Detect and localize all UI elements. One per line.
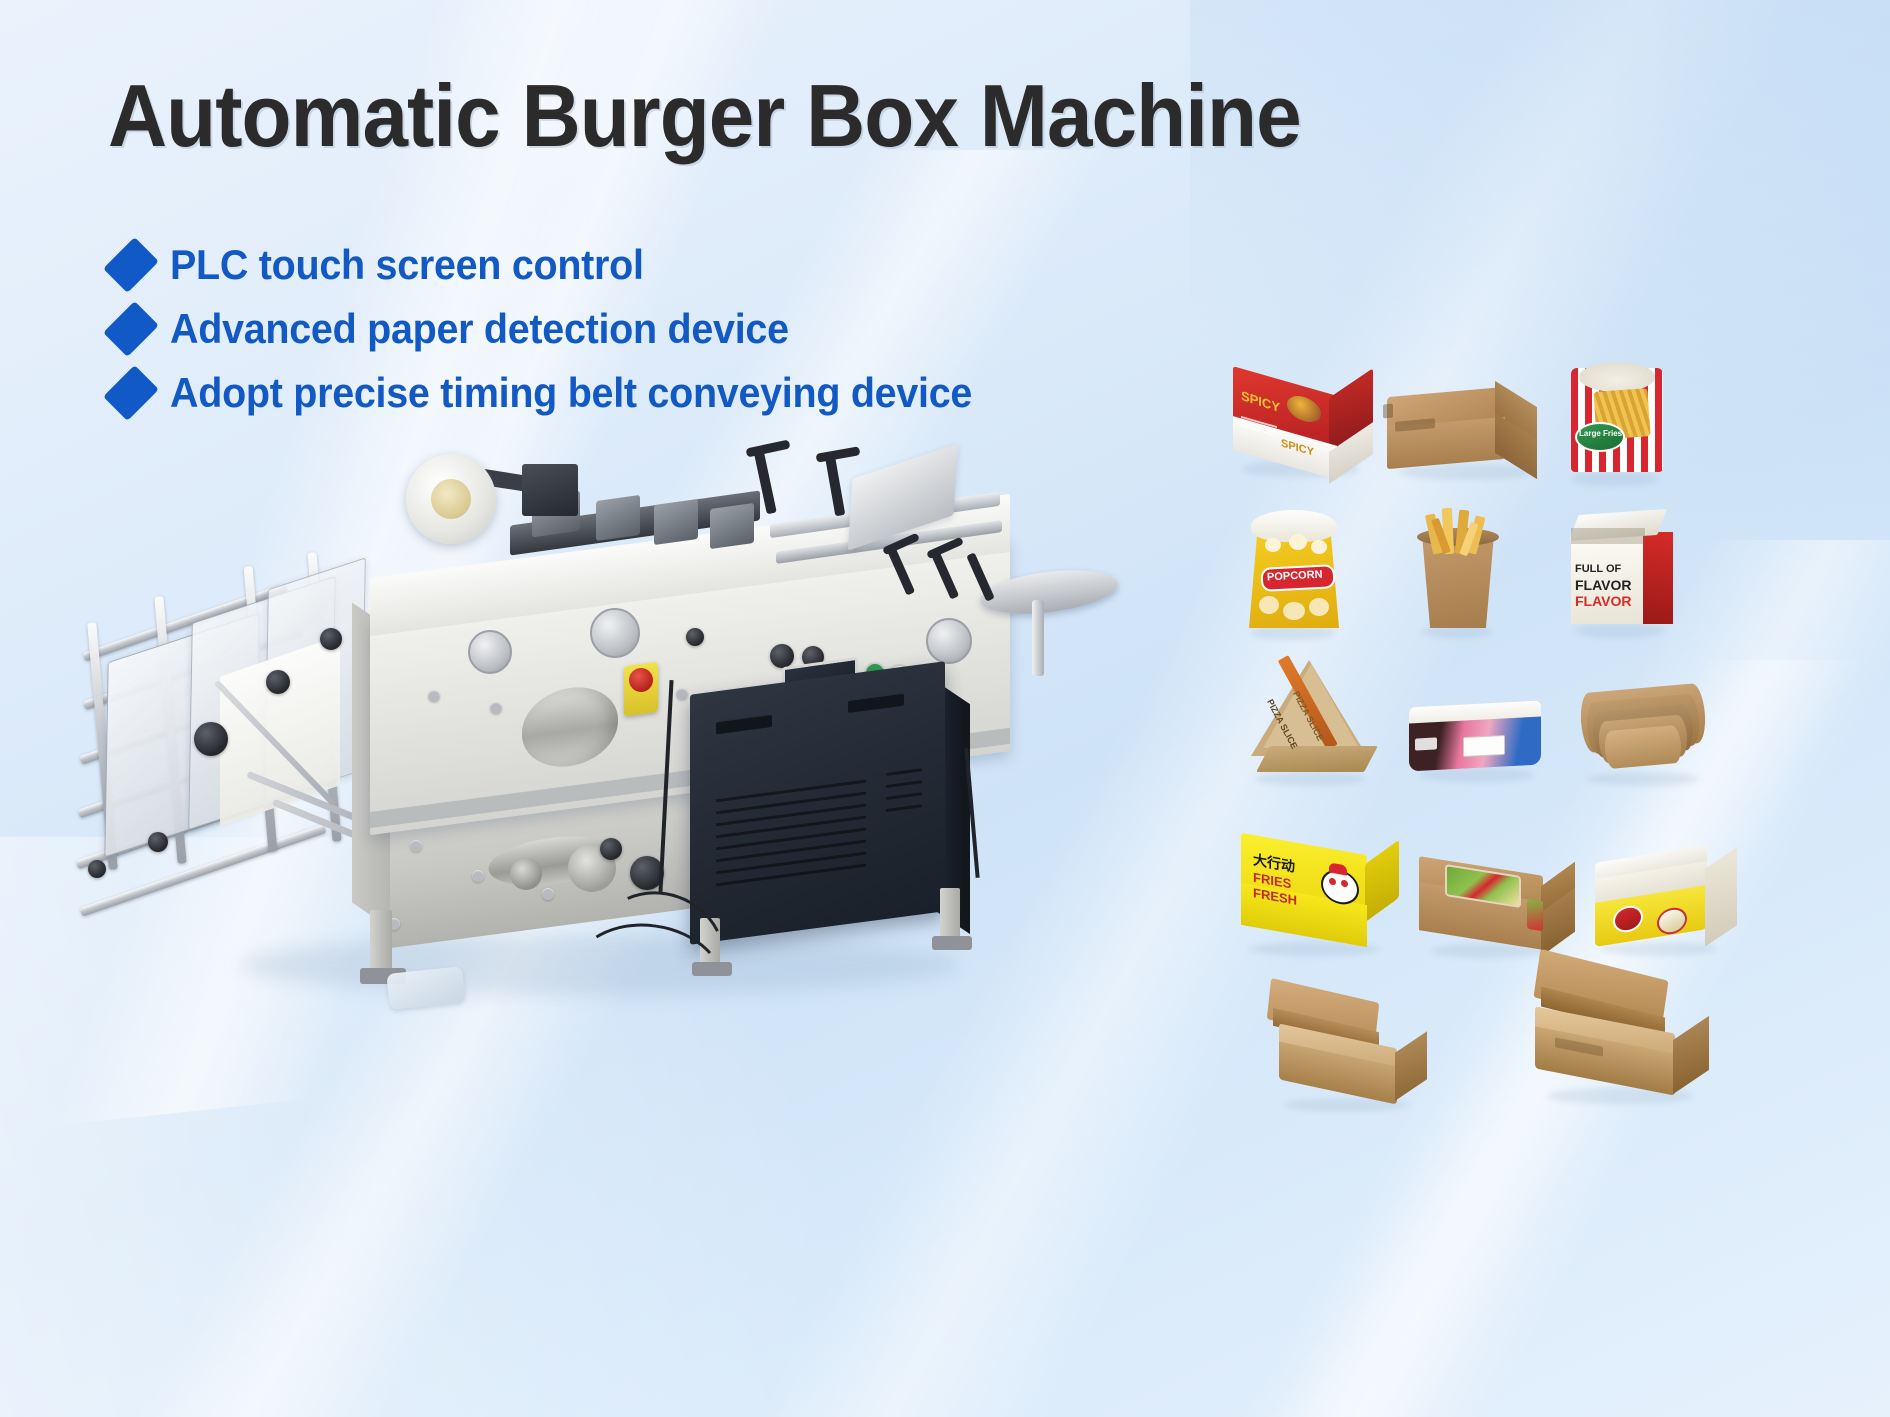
machine-leg <box>940 888 960 940</box>
machine-leg <box>370 910 392 972</box>
blue-diamond-icon <box>103 301 159 357</box>
product-label-full-of: FULL OF <box>1575 564 1621 575</box>
pressure-gauge <box>926 618 972 664</box>
feature-label-3: Adopt precise timing belt conveying devi… <box>170 369 972 417</box>
list-item: Adopt precise timing belt conveying devi… <box>110 364 1023 422</box>
cabinet-handle[interactable] <box>848 693 904 713</box>
panel-bolt <box>542 888 554 900</box>
discharge-table-post <box>1032 600 1044 676</box>
kraft-fries-cup <box>1385 508 1535 638</box>
panel-bolt <box>410 840 422 852</box>
yellow-fries-fresh-box: 大行动 FRIES FRESH <box>1225 830 1415 960</box>
pressure-gauge <box>468 630 512 674</box>
wrapped-foot-bag <box>386 966 465 1010</box>
paper-roll-core <box>431 479 471 519</box>
pressure-gauge <box>590 608 640 658</box>
control-cabinet <box>690 661 945 945</box>
yellow-popcorn-box: POPCORN <box>1225 510 1375 640</box>
panel-bolt <box>472 870 484 882</box>
adjust-lever <box>746 440 791 458</box>
machine-foot <box>932 936 972 950</box>
full-of-flavor-box: FULL OF FLAVOR FLAVOR <box>1541 504 1701 639</box>
machine-photo <box>70 440 1170 1120</box>
nested-kraft-boat-trays <box>1561 670 1731 790</box>
page-title: Automatic Burger Box Machine <box>108 72 1301 160</box>
emergency-stop-button[interactable] <box>629 668 653 692</box>
feature-list: PLC touch screen control Advanced paper … <box>110 236 1023 428</box>
panel-bolt <box>428 690 440 702</box>
blue-diamond-icon <box>103 365 159 421</box>
control-knob[interactable] <box>770 644 794 668</box>
product-label-flavor-1: FLAVOR <box>1575 578 1632 592</box>
blue-diamond-icon <box>103 237 159 293</box>
printed-food-tray <box>1395 680 1565 785</box>
pizza-slice-triangle-box: PIZZA SLICE PIZZA SLICE <box>1233 650 1393 785</box>
control-knob[interactable] <box>686 628 704 646</box>
roll-bracket <box>522 464 578 516</box>
product-sample-grid: SPICY SPICY Large Fries <box>1335 430 1835 1210</box>
striped-fries-box: Large Fries <box>1549 360 1689 490</box>
feature-label-1: PLC touch screen control <box>170 241 644 289</box>
cabinet-handle[interactable] <box>716 714 772 734</box>
kraft-lunch-box-open <box>1255 980 1445 1115</box>
adjust-lever <box>825 454 846 517</box>
panel-bolt <box>676 688 688 700</box>
poster-canvas: Automatic Burger Box Machine PLC touch s… <box>0 0 1890 1417</box>
red-spicy-burger-box: SPICY SPICY <box>1225 375 1385 485</box>
list-item: PLC touch screen control <box>110 236 1023 294</box>
panel-bolt <box>490 702 502 714</box>
large-kraft-clamshell-open <box>1515 958 1730 1108</box>
feature-label-2: Advanced paper detection device <box>170 305 789 353</box>
list-item: Advanced paper detection device <box>110 300 1023 358</box>
kraft-window-salad-box <box>1405 848 1585 963</box>
open-white-takeaway-box <box>1575 838 1750 963</box>
product-label-large-fries: Large Fries <box>1579 430 1622 438</box>
adjust-lever <box>816 446 861 463</box>
kraft-burger-clamshell <box>1377 364 1557 484</box>
control-knob[interactable] <box>600 838 622 860</box>
drive-pulley <box>510 858 542 890</box>
product-label-flavor-2: FLAVOR <box>1575 594 1632 608</box>
